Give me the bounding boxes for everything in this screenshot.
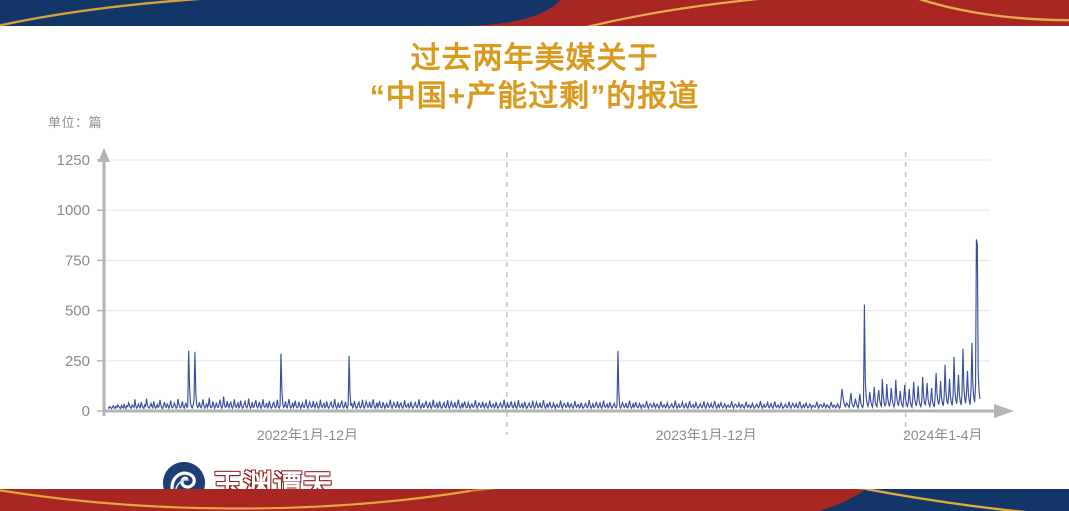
y-tick-label: 250 xyxy=(65,353,90,370)
y-tick-label: 1000 xyxy=(57,202,90,219)
top-decorative-band xyxy=(0,0,1069,26)
period-dividers xyxy=(507,152,906,435)
y-tick-label: 500 xyxy=(65,303,90,320)
chart-gridlines xyxy=(104,160,990,361)
infographic-poster: 过去两年美媒关于 “中国+产能过剩”的报道 单位：篇 0250500750100… xyxy=(0,0,1069,511)
chart-container: 025050075010001250 2022年1月-12月2023年1月-12… xyxy=(0,140,1069,440)
x-group-label: 2024年1-4月 xyxy=(903,427,982,440)
y-axis-ticks: 025050075010001250 xyxy=(57,152,104,420)
y-tick-label: 1250 xyxy=(57,152,90,169)
y-axis-line xyxy=(98,148,110,416)
x-group-label: 2022年1月-12月 xyxy=(257,427,358,440)
x-group-label: 2023年1月-12月 xyxy=(656,427,757,440)
y-tick-label: 0 xyxy=(82,403,90,420)
title-line-1: 过去两年美媒关于 xyxy=(0,40,1069,78)
page-title: 过去两年美媒关于 “中国+产能过剩”的报道 xyxy=(0,40,1069,117)
title-line-2: “中国+产能过剩”的报道 xyxy=(0,78,1069,116)
series-line xyxy=(108,239,980,408)
x-axis-labels: 2022年1月-12月2023年1月-12月2024年1-4月 xyxy=(257,427,983,440)
bottom-decorative-band xyxy=(0,489,1069,511)
unit-label: 单位：篇 xyxy=(48,112,102,131)
y-tick-label: 750 xyxy=(65,252,90,269)
chart-series xyxy=(108,239,980,408)
